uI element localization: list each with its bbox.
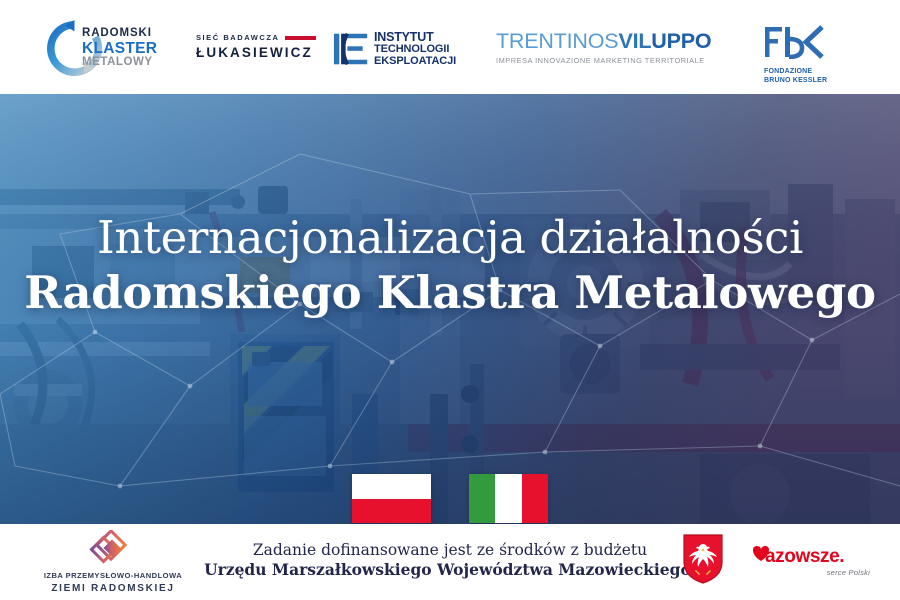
lukasiewicz-network-label: SIEĆ BADAWCZA (196, 33, 279, 42)
funding-line2: Urzędu Marszałkowskiego Województwa Mazo… (200, 560, 700, 580)
header-logo-bar: RADOMSKI KLASTER METALOWY SIEĆ BADAWCZA … (0, 0, 900, 94)
fbk-line1: FONDAZIONE (764, 68, 855, 77)
iph-line1: IZBA PRZEMYSŁOWO-HANDLOWA (38, 571, 188, 580)
fbk-subtitle: FONDAZIONE BRUNO KESSLER (764, 68, 855, 86)
flag-poland-white-stripe (352, 474, 431, 499)
trentino-part1: TRENTINOS (496, 29, 618, 53)
flag-poland (352, 474, 431, 523)
logo-trentino-sviluppo: TRENTINOSVILUPPO IMPRESA INNOVAZIONE MAR… (496, 31, 711, 65)
ite-line2: TECHNOLOGII (374, 44, 456, 56)
ite-line1: INSTYTUT (374, 31, 456, 44)
trentino-part3: UPPO (651, 29, 711, 53)
poster-root: RADOMSKI KLASTER METALOWY SIEĆ BADAWCZA … (0, 0, 900, 600)
rkm-line2: KLASTER (82, 41, 166, 57)
flag-italy-green-stripe (469, 474, 495, 523)
flags-row (0, 474, 900, 523)
lukasiewicz-name: ŁUKASIEWICZ (196, 45, 316, 60)
lukasiewicz-red-bar-icon (285, 36, 316, 40)
mazowsze-coat-of-arms-icon (683, 534, 723, 584)
funding-line1: Zadanie dofinansowane jest ze środków z … (200, 541, 700, 560)
rkm-line3: METALOWY (82, 57, 166, 69)
hero-title-line2: Radomskiego Klastra Metalowego (24, 268, 875, 318)
flag-italy-red-stripe (522, 474, 548, 523)
fbk-line2: BRUNO KESSLER (764, 77, 855, 86)
flag-poland-red-stripe (352, 499, 431, 524)
trentino-part2: VIL (618, 29, 651, 53)
iph-line2: ZIEMI RADOMSKIEJ (38, 583, 188, 594)
hero-title-line1: Internacjonalizacja działalności (97, 214, 803, 262)
logo-radomski-klaster-metalowy: RADOMSKI KLASTER METALOWY (46, 17, 164, 79)
rkm-line1: RADOMSKI (82, 28, 166, 40)
logo-mazowsze-serce-polski: azowsze. serce Polski (749, 543, 874, 577)
funding-statement: Zadanie dofinansowane jest ze środków z … (200, 541, 700, 581)
trentino-subtitle: IMPRESA INNOVAZIONE MARKETING TERRITORIA… (496, 56, 711, 65)
hero-banner: Internacjonalizacja działalności Radomsk… (0, 94, 900, 524)
logo-izba-przemyslowo-handlowa: IZBA PRZEMYSŁOWO-HANDLOWA ZIEMI RADOMSKI… (38, 530, 188, 594)
logo-fondazione-bruno-kessler: FONDAZIONE BRUNO KESSLER (760, 25, 855, 86)
iph-diamond-icon (87, 530, 139, 568)
logo-instytut-technologii-eksploatacji: INSTYTUT TECHNOLOGII EKSPLOATACJI (333, 29, 453, 69)
svg-text:azowsze.: azowsze. (765, 546, 844, 567)
fbk-monogram-icon (764, 25, 826, 59)
mazowsze-tagline: serce Polski (749, 568, 874, 577)
ite-monogram-icon (333, 31, 369, 67)
logo-lukasiewicz: SIEĆ BADAWCZA ŁUKASIEWICZ (196, 33, 316, 60)
mazowsze-wordmark-icon: azowsze. (749, 543, 871, 567)
flag-italy (469, 474, 548, 523)
flag-italy-white-stripe (495, 474, 521, 523)
ite-line3: EKSPLOATACJI (374, 56, 456, 68)
hero-title-block: Internacjonalizacja działalności Radomsk… (0, 94, 900, 524)
